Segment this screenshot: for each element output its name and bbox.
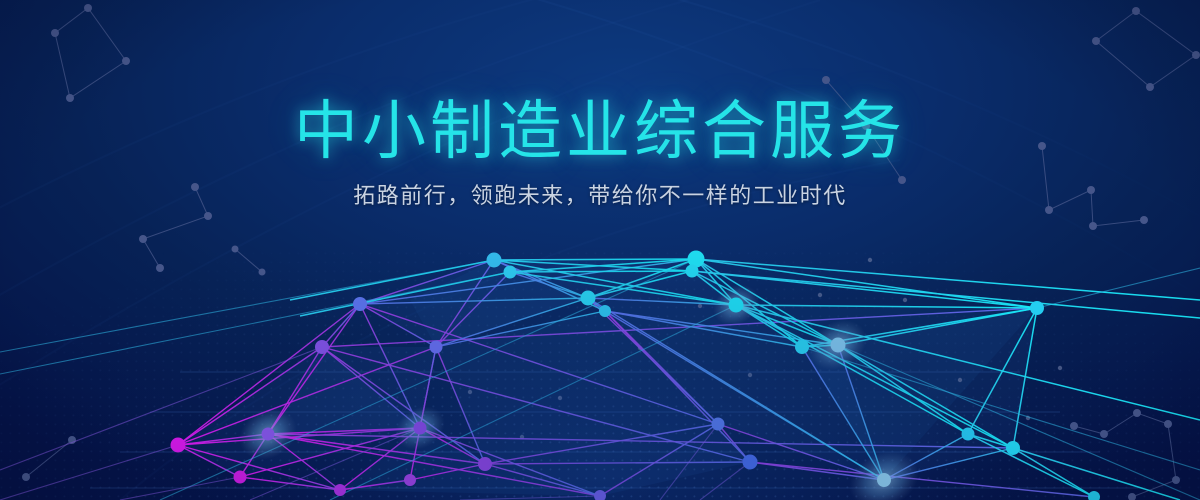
vignette-overlay	[0, 0, 1200, 500]
hero-text-block: 中小制造业综合服务 拓路前行，领跑未来，带给你不一样的工业时代	[0, 98, 1200, 210]
page-subtitle: 拓路前行，领跑未来，带给你不一样的工业时代	[0, 182, 1200, 211]
hero-banner: 中小制造业综合服务 拓路前行，领跑未来，带给你不一样的工业时代	[0, 0, 1200, 500]
page-title: 中小制造业综合服务	[0, 98, 1200, 166]
